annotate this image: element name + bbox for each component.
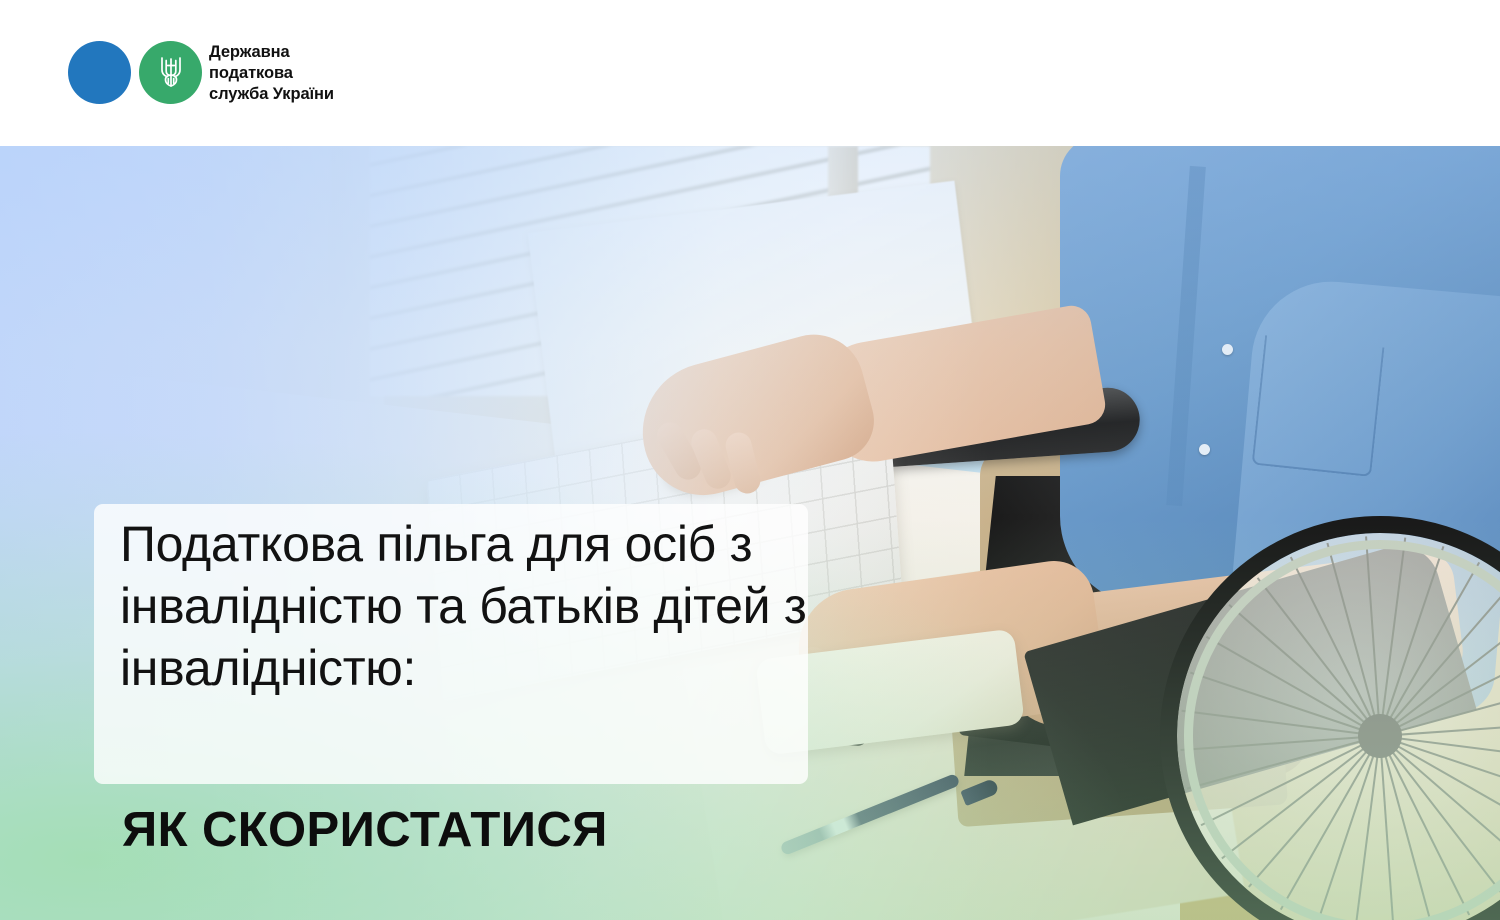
org-name-line-3: служба України bbox=[209, 84, 334, 105]
page-subtitle: ЯК СКОРИСТАТИСЯ bbox=[122, 801, 608, 859]
site-header: Державна податкова служба України bbox=[0, 0, 1500, 146]
poster-page: Державна податкова служба України bbox=[0, 0, 1500, 920]
logo-block[interactable]: Державна податкова служба України bbox=[68, 41, 334, 105]
ukraine-trident-icon bbox=[156, 54, 186, 92]
blue-circle-icon bbox=[68, 41, 131, 104]
hero-banner: Податкова пільга для осіб з інвалідністю… bbox=[0, 146, 1500, 920]
logo-marks bbox=[68, 41, 201, 104]
green-circle-icon bbox=[139, 41, 202, 104]
page-title: Податкова пільга для осіб з інвалідністю… bbox=[120, 513, 810, 699]
org-name-line-1: Державна bbox=[209, 42, 334, 63]
org-name: Державна податкова служба України bbox=[209, 41, 334, 105]
org-name-line-2: податкова bbox=[209, 63, 334, 84]
